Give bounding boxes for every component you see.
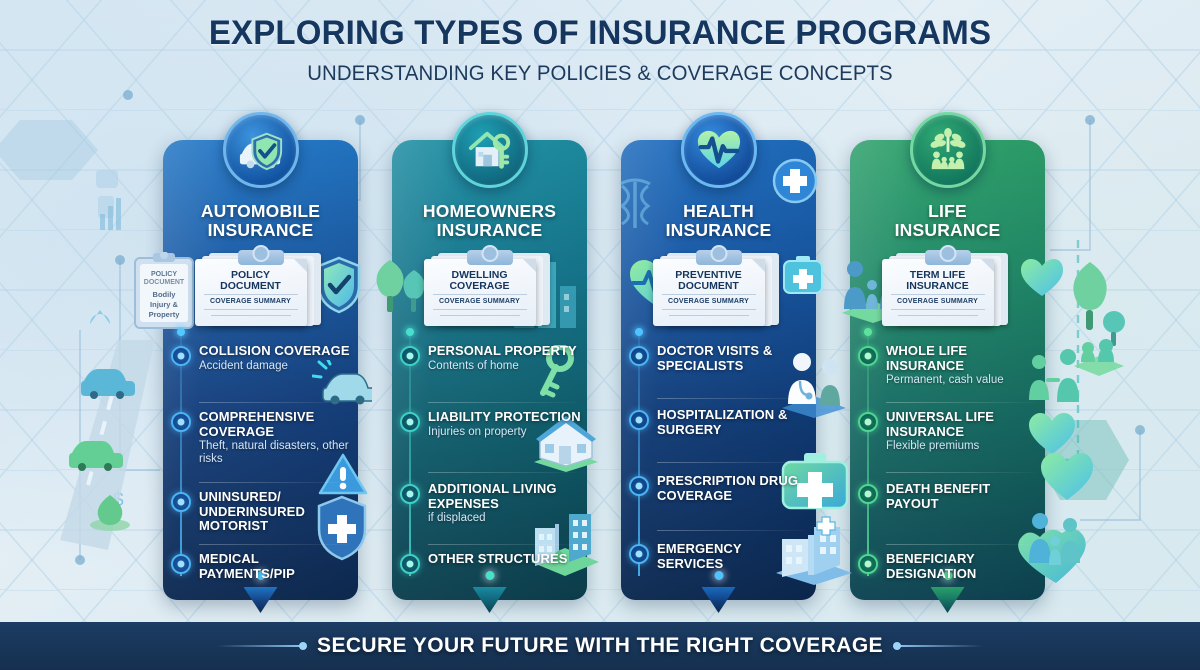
bullet-dot <box>400 484 420 504</box>
bullet-dot <box>629 544 649 564</box>
list-item-label: MEDICAL PAYMENTS/PIP <box>199 552 352 581</box>
document-card-automobile: POLICY DOCUMENT COVERAGE SUMMARY <box>195 250 327 328</box>
card-title-line2: INSURANCE <box>850 221 1045 240</box>
bullet-dot <box>171 412 191 432</box>
list-item-label: COMPREHENSIVE COVERAGE <box>199 410 352 439</box>
list-item-label: LIABILITY PROTECTION <box>428 410 581 425</box>
card-automobile-insurance[interactable]: AUTOMOBILE INSURANCE POLICY DOCUMENT COV… <box>163 140 358 600</box>
badge-life-insurance <box>910 112 986 188</box>
timeline-spine <box>180 332 182 576</box>
doc-subtitle: COVERAGE SUMMARY <box>195 298 307 305</box>
list-item-label: PRESCRIPTION DRUG COVERAGE <box>657 474 810 503</box>
car-shield-icon <box>238 127 284 173</box>
bullet-dot <box>400 346 420 366</box>
card-health-insurance[interactable]: HEALTH INSURANCE PREVENTIVE DOCUMENT COV… <box>621 140 816 600</box>
doc-title-line2: DOCUMENT <box>678 280 739 292</box>
list-item-label: UNINSURED/ UNDERINSURED MOTORIST <box>199 490 352 534</box>
house-key-icon <box>467 127 513 173</box>
coverage-list-life: WHOLE LIFE INSURANCE Permanent, cash val… <box>850 336 1045 586</box>
bullet-dot <box>858 412 878 432</box>
bullet-dot <box>858 346 878 366</box>
list-item-label: DOCTOR VISITS & SPECIALISTS <box>657 344 810 373</box>
footer-line-right <box>897 645 983 647</box>
doc-subtitle: COVERAGE SUMMARY <box>424 298 536 305</box>
page-title: EXPLORING TYPES OF INSURANCE PROGRAMS <box>18 14 1182 53</box>
timeline-spine <box>867 332 869 576</box>
document-card-homeowners: DWELLING COVERAGE COVERAGE SUMMARY <box>424 250 556 328</box>
list-item-desc: if displaced <box>428 512 581 525</box>
bullet-dot <box>858 554 878 574</box>
bullet-dot <box>629 410 649 430</box>
card-title-health-insurance: HEALTH INSURANCE <box>621 202 816 240</box>
card-title-life-insurance: LIFE INSURANCE <box>850 202 1045 240</box>
list-item-label: OTHER STRUCTURES <box>428 552 581 567</box>
list-item-desc: Accident damage <box>199 360 352 373</box>
card-homeowners-insurance[interactable]: HOMEOWNERS INSURANCE DWELLING COVERAGE C… <box>392 140 587 600</box>
footer-line-left <box>217 645 303 647</box>
bullet-dot <box>629 476 649 496</box>
timeline-spine-top-dot <box>635 328 643 336</box>
list-item-desc: Injuries on property <box>428 426 581 439</box>
badge-homeowners-insurance <box>452 112 528 188</box>
footer-tagline: SECURE YOUR FUTURE WITH THE RIGHT COVERA… <box>317 634 883 658</box>
list-item-desc: Theft, natural disasters, other risks <box>199 440 352 466</box>
clipboard-clamp-icon <box>238 250 284 265</box>
heartbeat-icon <box>696 127 742 173</box>
card-life-insurance[interactable]: LIFE INSURANCE TERM LIFE INSURANCE COVER… <box>850 140 1045 600</box>
header: EXPLORING TYPES OF INSURANCE PROGRAMS UN… <box>0 14 1200 86</box>
insurance-cards-row: AUTOMOBILE INSURANCE POLICY DOCUMENT COV… <box>0 140 1200 610</box>
card-bottom-tip <box>244 587 278 613</box>
card-title-line2: INSURANCE <box>392 221 587 240</box>
card-title-line2: INSURANCE <box>163 221 358 240</box>
clipboard-clamp-icon <box>925 250 971 265</box>
timeline-spine <box>409 332 411 576</box>
list-item-label: WHOLE LIFE INSURANCE <box>886 344 1039 373</box>
badge-health-insurance <box>681 112 757 188</box>
document-card-health: PREVENTIVE DOCUMENT COVERAGE SUMMARY <box>653 250 785 328</box>
bullet-dot <box>400 412 420 432</box>
card-title-homeowners-insurance: HOMEOWNERS INSURANCE <box>392 202 587 240</box>
list-item-label: HOSPITALIZATION & SURGERY <box>657 408 810 437</box>
list-item-desc: Permanent, cash value <box>886 374 1039 387</box>
card-title-automobile-insurance: AUTOMOBILE INSURANCE <box>163 202 358 240</box>
list-item-label: UNIVERSAL LIFE INSURANCE <box>886 410 1039 439</box>
list-item-desc: Flexible premiums <box>886 440 1039 453</box>
doc-title-line2: DOCUMENT <box>220 280 281 292</box>
bullet-dot <box>171 554 191 574</box>
card-title-line1: LIFE <box>850 202 1045 221</box>
list-item-desc: Contents of home <box>428 360 581 373</box>
card-bottom-tip <box>702 587 736 613</box>
list-item-label: COLLISION COVERAGE <box>199 344 352 359</box>
bullet-dot <box>171 492 191 512</box>
list-item-label: PERSONAL PROPERTY <box>428 344 581 359</box>
family-tree-icon <box>925 127 971 173</box>
list-item-label: ADDITIONAL LIVING EXPENSES <box>428 482 581 511</box>
bullet-dot <box>629 346 649 366</box>
card-title-line1: HOMEOWNERS <box>392 202 587 221</box>
page-subtitle: UNDERSTANDING KEY POLICIES & COVERAGE CO… <box>18 62 1182 86</box>
clipboard-clamp-icon <box>696 250 742 265</box>
bullet-dot <box>400 554 420 574</box>
document-card-life: TERM LIFE INSURANCE COVERAGE SUMMARY <box>882 250 1014 328</box>
coverage-list-automobile: COLLISION COVERAGE Accident damage COMPR… <box>163 336 358 586</box>
card-bottom-tip <box>473 587 507 613</box>
doc-subtitle: COVERAGE SUMMARY <box>653 298 765 305</box>
timeline-spine-top-dot <box>406 328 414 336</box>
timeline-spine-top-dot <box>864 328 872 336</box>
doc-subtitle: COVERAGE SUMMARY <box>882 298 994 305</box>
coverage-list-homeowners: PERSONAL PROPERTY Contents of home LIABI… <box>392 336 587 586</box>
timeline-spine-top-dot <box>177 328 185 336</box>
card-title-line1: HEALTH <box>621 202 816 221</box>
timeline-spine <box>638 332 640 576</box>
list-item-label: EMERGENCY SERVICES <box>657 542 810 571</box>
bullet-dot <box>171 346 191 366</box>
list-item-label: BENEFICIARY DESIGNATION <box>886 552 1039 581</box>
bullet-dot <box>858 484 878 504</box>
doc-title-line2: INSURANCE <box>906 280 968 292</box>
card-title-line2: INSURANCE <box>621 221 816 240</box>
coverage-list-health: DOCTOR VISITS & SPECIALISTS HOSPITALIZAT… <box>621 336 816 586</box>
footer-banner: SECURE YOUR FUTURE WITH THE RIGHT COVERA… <box>0 622 1200 670</box>
card-bottom-tip <box>931 587 965 613</box>
list-item-label: DEATH BENEFIT PAYOUT <box>886 482 1039 511</box>
badge-automobile-insurance <box>223 112 299 188</box>
doc-title-line2: COVERAGE <box>449 280 509 292</box>
card-title-line1: AUTOMOBILE <box>163 202 358 221</box>
clipboard-clamp-icon <box>467 250 513 265</box>
